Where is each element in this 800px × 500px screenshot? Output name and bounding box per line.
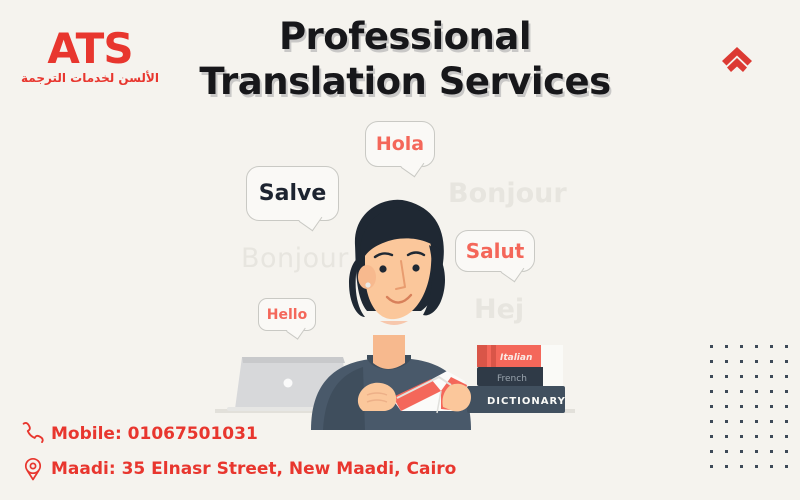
bubble-tail bbox=[401, 154, 425, 178]
grid-dot bbox=[755, 360, 758, 363]
book-label-dictionary: DICTIONARY bbox=[487, 396, 566, 407]
contact-block: Mobile: 01067501031 Maadi: 35 Elnasr Str… bbox=[20, 412, 456, 482]
grid-dot bbox=[740, 450, 743, 453]
page-title: Professional Translation Services bbox=[170, 14, 640, 104]
grid-dot bbox=[725, 405, 728, 408]
grid-dot bbox=[710, 360, 713, 363]
grid-dot bbox=[725, 360, 728, 363]
grid-dot bbox=[725, 345, 728, 348]
grid-dot bbox=[770, 375, 773, 378]
book-stack: Italian French DICTIONARY bbox=[467, 345, 566, 413]
grid-dot bbox=[725, 420, 728, 423]
grid-dot bbox=[725, 435, 728, 438]
grid-dot bbox=[710, 450, 713, 453]
grid-dot bbox=[740, 360, 743, 363]
grid-dot bbox=[770, 390, 773, 393]
logo-arabic-subtitle: الألسن لخدمات الترجمة bbox=[20, 71, 160, 85]
grid-dot bbox=[755, 390, 758, 393]
grid-dot bbox=[740, 465, 743, 468]
grid-dot bbox=[740, 405, 743, 408]
grid-dot bbox=[710, 420, 713, 423]
grid-dot bbox=[755, 375, 758, 378]
book-label-italian: Italian bbox=[500, 353, 532, 363]
grid-dot bbox=[755, 450, 758, 453]
speech-bubble-hello: Hello bbox=[258, 298, 316, 331]
contact-row-mobile[interactable]: Mobile: 01067501031 bbox=[20, 421, 456, 447]
grid-dot bbox=[710, 435, 713, 438]
grid-dot bbox=[740, 435, 743, 438]
contact-mobile-text: Mobile: 01067501031 bbox=[51, 424, 258, 444]
double-chevron-up-icon bbox=[718, 45, 756, 75]
grid-dot bbox=[725, 375, 728, 378]
grid-dot bbox=[785, 345, 788, 348]
grid-dot bbox=[785, 375, 788, 378]
grid-dot bbox=[770, 405, 773, 408]
grid-dot bbox=[740, 345, 743, 348]
grid-dot bbox=[740, 375, 743, 378]
grid-dot bbox=[710, 465, 713, 468]
headline-line-2: Translation Services bbox=[170, 59, 640, 104]
speech-bubble-text: Salve bbox=[259, 181, 327, 206]
grid-dot bbox=[770, 450, 773, 453]
speech-bubble-text: Hello bbox=[267, 307, 307, 323]
speech-bubble-hola: Hola bbox=[365, 121, 435, 167]
speech-bubble-text: Salut bbox=[466, 239, 525, 263]
speech-bubble-salve: Salve bbox=[246, 166, 339, 221]
grid-dot bbox=[710, 345, 713, 348]
grid-dot bbox=[785, 360, 788, 363]
grid-dot bbox=[740, 390, 743, 393]
contact-row-address[interactable]: Maadi: 35 Elnasr Street, New Maadi, Cair… bbox=[20, 456, 456, 482]
poster-canvas: ATS الألسن لخدمات الترجمة Professional T… bbox=[0, 0, 800, 500]
grid-dot bbox=[770, 465, 773, 468]
grid-dot bbox=[785, 435, 788, 438]
grid-dot bbox=[785, 465, 788, 468]
brand-logo[interactable]: ATS الألسن لخدمات الترجمة bbox=[20, 28, 160, 85]
grid-dot bbox=[785, 405, 788, 408]
grid-dot bbox=[785, 390, 788, 393]
grid-dot bbox=[710, 375, 713, 378]
grid-dot bbox=[770, 345, 773, 348]
grid-dot bbox=[755, 465, 758, 468]
grid-dot bbox=[770, 360, 773, 363]
grid-dot bbox=[755, 420, 758, 423]
grid-dot bbox=[785, 420, 788, 423]
grid-dot bbox=[725, 450, 728, 453]
grid-dot bbox=[710, 390, 713, 393]
phone-icon bbox=[20, 421, 46, 447]
grid-dot bbox=[740, 420, 743, 423]
speech-bubble-salut: Salut bbox=[455, 230, 535, 272]
grid-dot bbox=[755, 405, 758, 408]
contact-address-text: Maadi: 35 Elnasr Street, New Maadi, Cair… bbox=[51, 459, 456, 479]
grid-dot bbox=[725, 390, 728, 393]
headline-line-1: Professional bbox=[170, 14, 640, 59]
grid-dot bbox=[725, 465, 728, 468]
grid-dot bbox=[785, 450, 788, 453]
grid-dot bbox=[710, 405, 713, 408]
location-pin-icon bbox=[20, 456, 46, 482]
grid-dot bbox=[755, 345, 758, 348]
grid-dot bbox=[770, 435, 773, 438]
speech-bubble-text: Hola bbox=[376, 133, 424, 155]
grid-dot bbox=[755, 435, 758, 438]
logo-wordmark: ATS bbox=[20, 28, 160, 70]
book-label-french: French bbox=[497, 374, 527, 384]
decorative-dot-grid bbox=[710, 345, 782, 476]
grid-dot bbox=[770, 420, 773, 423]
